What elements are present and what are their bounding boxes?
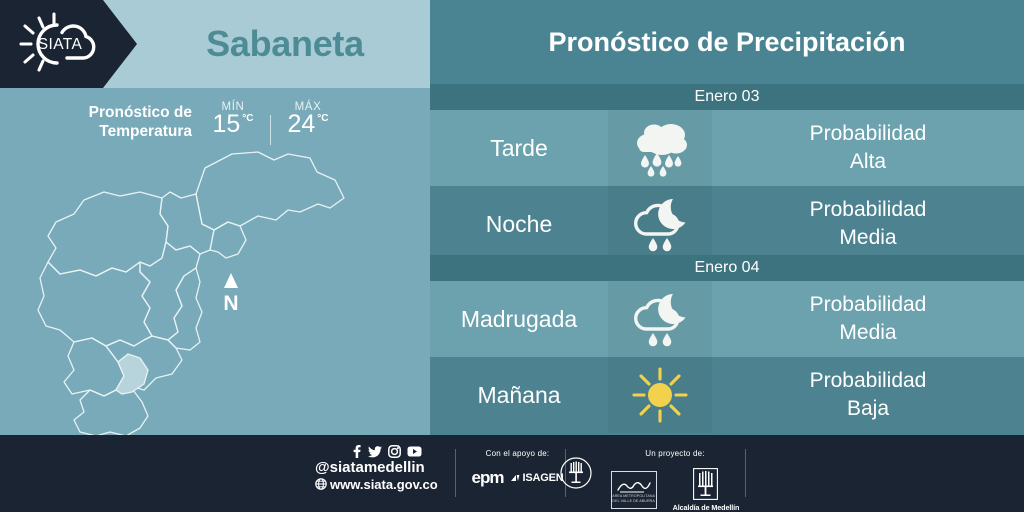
temperature-divider <box>270 115 271 145</box>
probability-line1: Probabilidad <box>810 120 927 148</box>
footer-support-block: Con el apoyo de: epm ISAGEN <box>470 449 565 488</box>
moon-cloud-rain-icon <box>629 196 691 252</box>
forecast-probability: Probabilidad Alta <box>712 110 1024 186</box>
forecast-period: Madrugada <box>430 281 608 357</box>
sun-icon <box>630 366 690 424</box>
amva-signature-icon <box>616 477 652 494</box>
date-header-enero-04: Enero 04 <box>430 255 1024 281</box>
forecast-probability: Probabilidad Media <box>712 281 1024 357</box>
temperature-label-line1: Pronóstico de <box>72 104 192 123</box>
compass-north-icon: N <box>223 273 238 315</box>
seal-icon <box>560 457 592 489</box>
temperature-block: Pronóstico de Temperatura MÍN 15 °C MÁX … <box>0 88 430 158</box>
forecast-icon-cell <box>608 357 712 433</box>
svg-text:SIATA: SIATA <box>38 36 83 53</box>
forecast-row: Tarde <box>430 110 1024 186</box>
right-panel: Pronóstico de Precipitación Enero 03 Tar… <box>430 0 1024 435</box>
alcaldia-mark-icon <box>693 468 718 500</box>
website-url: www.siata.gov.co <box>330 477 438 492</box>
temperature-label: Pronóstico de Temperatura <box>72 104 202 142</box>
map-highlight-sabaneta <box>116 354 148 394</box>
temperature-max-value: 24 <box>287 112 315 137</box>
temperature-min-value: 15 <box>212 112 240 137</box>
date-header-enero-03: Enero 03 <box>430 84 1024 110</box>
temperature-min: MÍN 15 °C <box>202 101 264 137</box>
isagen-mark-icon <box>511 474 520 483</box>
isagen-logo: ISAGEN <box>511 472 563 484</box>
rain-heavy-icon <box>629 119 691 177</box>
footer-divider <box>455 449 456 497</box>
temperature-values: MÍN 15 °C MÁX 24 °C <box>202 101 339 145</box>
probability-line2: Media <box>839 224 896 252</box>
temperature-label-line2: Temperatura <box>72 123 192 142</box>
weather-infographic: SIATA Sabaneta Pronóstico de Temperatura… <box>0 0 1024 512</box>
footer-project-block: Un proyecto de: AREA METROPOLITANADEL VA… <box>600 449 750 512</box>
social-icons <box>351 445 422 458</box>
compass-label: N <box>223 292 238 315</box>
alcaldia-logo: Alcaldía de Medellín <box>673 468 740 512</box>
forecast-row: Noche Probabilidad Media <box>430 186 1024 262</box>
globe-icon <box>315 478 327 490</box>
probability-line2: Media <box>839 319 896 347</box>
probability-line1: Probabilidad <box>810 367 927 395</box>
map-aburra-valley: N <box>0 150 430 435</box>
footer-website[interactable]: www.siata.gov.co <box>315 477 438 492</box>
youtube-icon[interactable] <box>407 446 422 457</box>
footer-social-block: @siatamedellin www.siata.gov.co <box>315 445 445 492</box>
precipitation-title: Pronóstico de Precipitación <box>430 0 1024 84</box>
forecast-period: Tarde <box>430 110 608 186</box>
amva-logo: AREA METROPOLITANADEL VALLE DE ABURRA <box>611 471 657 509</box>
project-caption: Un proyecto de: <box>600 449 750 458</box>
forecast-period: Noche <box>430 186 608 262</box>
amva-caption: AREA METROPOLITANADEL VALLE DE ABURRA <box>612 494 655 503</box>
left-panel: SIATA Sabaneta Pronóstico de Temperatura… <box>0 0 430 435</box>
instagram-icon[interactable] <box>388 445 401 458</box>
forecast-period: Mañana <box>430 357 608 433</box>
city-title: Sabaneta <box>140 0 430 88</box>
footer-divider <box>745 449 746 497</box>
facebook-icon[interactable] <box>351 445 362 458</box>
forecast-probability: Probabilidad Baja <box>712 357 1024 433</box>
support-logos: epm ISAGEN <box>470 468 565 488</box>
epm-logo: epm <box>472 468 504 488</box>
alcaldia-caption: Alcaldía de Medellín <box>673 503 740 512</box>
seal-logo <box>560 457 592 494</box>
temperature-max-row: 24 °C <box>287 112 328 137</box>
probability-line2: Baja <box>847 395 889 423</box>
probability-line1: Probabilidad <box>810 196 927 224</box>
footer: @siatamedellin www.siata.gov.co Con el a… <box>0 435 1024 512</box>
temperature-max: MÁX 24 °C <box>277 101 339 137</box>
forecast-icon-cell <box>608 281 712 357</box>
temperature-min-unit: °C <box>242 113 253 124</box>
forecast-icon-cell <box>608 186 712 262</box>
municipality-map: N <box>0 150 430 435</box>
project-logos: AREA METROPOLITANADEL VALLE DE ABURRA <box>600 468 750 512</box>
probability-line1: Probabilidad <box>810 291 927 319</box>
temperature-max-unit: °C <box>317 113 328 124</box>
forecast-probability: Probabilidad Media <box>712 186 1024 262</box>
support-caption: Con el apoyo de: <box>470 449 565 458</box>
moon-cloud-rain-icon <box>629 291 691 347</box>
probability-line2: Alta <box>850 148 886 176</box>
forecast-row: Madrugada Probabilidad Media <box>430 281 1024 357</box>
forecast-icon-cell <box>608 110 712 186</box>
social-handle[interactable]: @siatamedellin <box>315 459 425 477</box>
twitter-icon[interactable] <box>368 446 382 458</box>
temperature-min-row: 15 °C <box>212 112 253 137</box>
sun-cloud-icon: SIATA <box>8 8 112 80</box>
forecast-row: Mañana Probabili <box>430 357 1024 433</box>
